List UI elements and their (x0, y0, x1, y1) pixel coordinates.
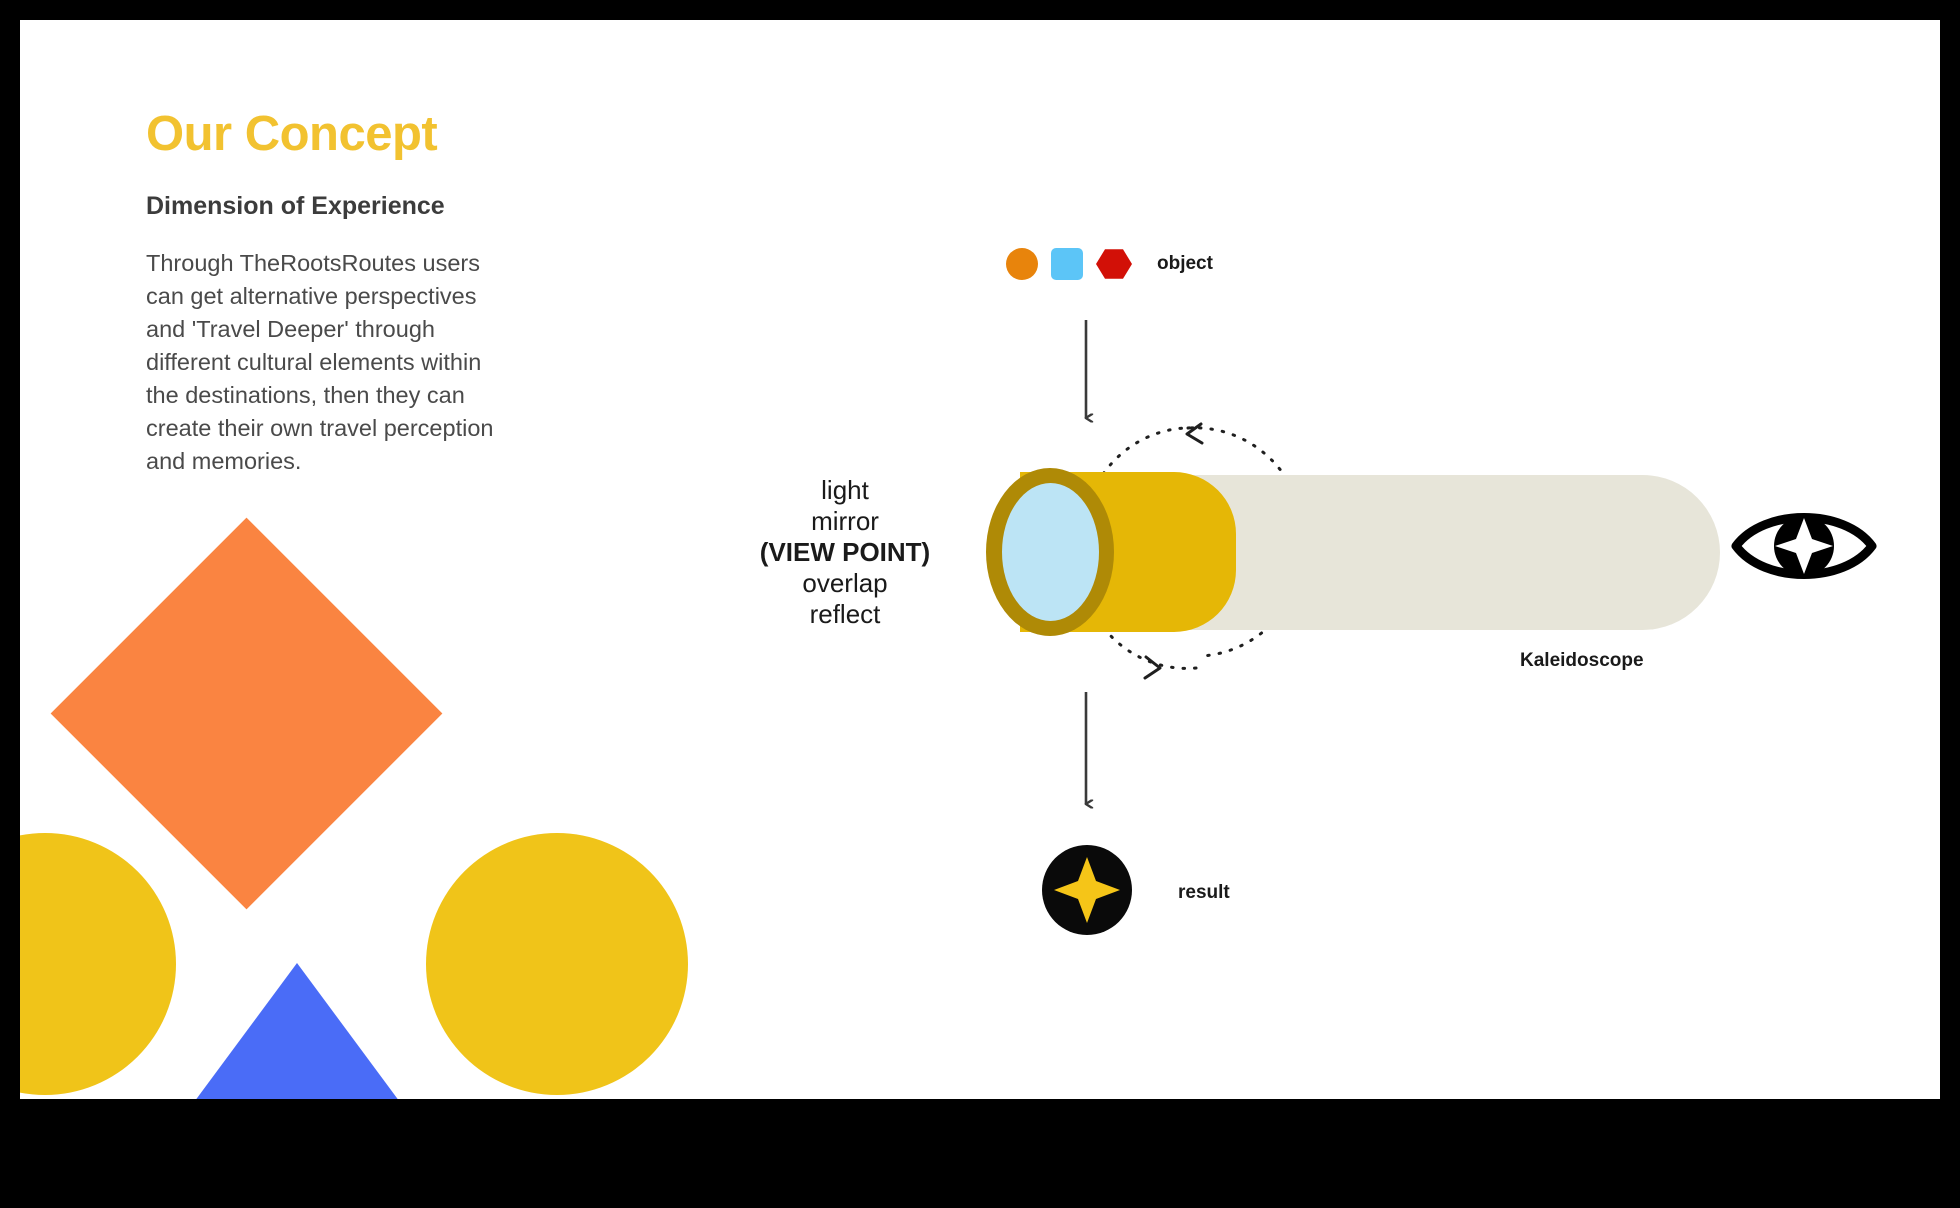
viewpoint-line-viewpoint: (VIEW POINT) (720, 537, 970, 568)
red-hexagon-icon (1096, 248, 1132, 280)
kaleidoscope-label: Kaleidoscope (1520, 650, 1644, 672)
kaleidoscope-tube-beige (1180, 475, 1720, 630)
object-label: object (1157, 253, 1213, 275)
orange-circle-icon (1006, 248, 1038, 280)
kaleidoscope-diagram: object light (20, 20, 1940, 1099)
viewpoint-line-overlap: overlap (720, 568, 970, 599)
eye-icon (1730, 498, 1878, 594)
viewpoint-line-mirror: mirror (720, 506, 970, 537)
viewpoint-line-light: light (720, 475, 970, 506)
kaleidoscope-lens-glass (1002, 483, 1099, 621)
object-shape-row: object (1006, 248, 1213, 280)
result-badge (1042, 845, 1132, 935)
result-label: result (1178, 882, 1230, 904)
blue-square-icon (1051, 248, 1083, 280)
viewpoint-line-reflect: reflect (720, 599, 970, 630)
slide-canvas: Our Concept Dimension of Experience Thro… (20, 20, 1940, 1099)
viewpoint-descriptor-stack: light mirror (VIEW POINT) overlap reflec… (720, 475, 970, 630)
result-star-icon (1042, 845, 1132, 935)
